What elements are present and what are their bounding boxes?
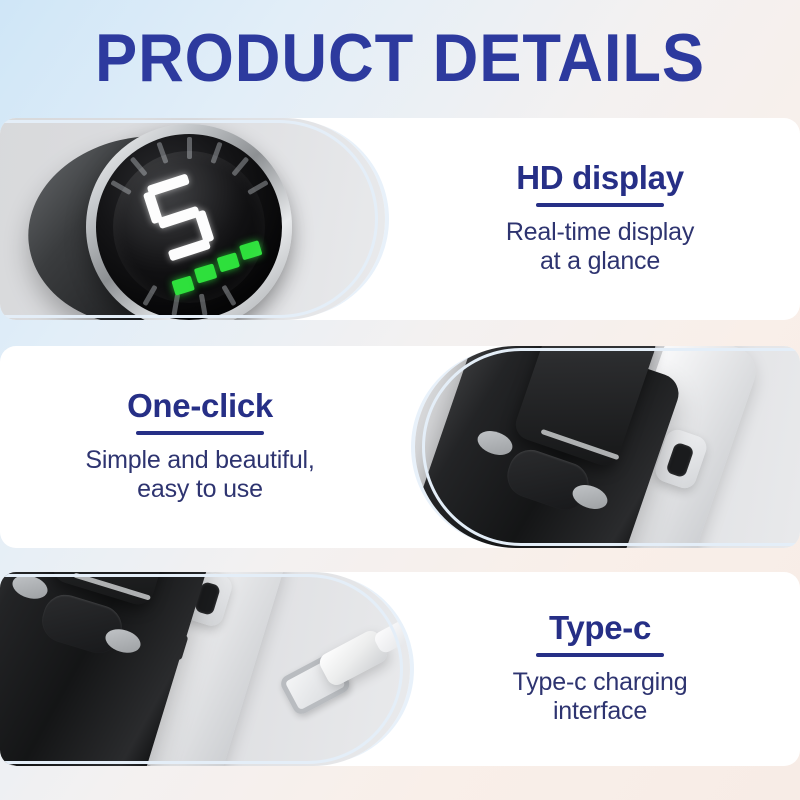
heading-underline bbox=[536, 653, 664, 657]
feature-heading: HD display bbox=[516, 161, 684, 196]
feature-text-one-click: One-click Simple and beautiful, easy to … bbox=[0, 346, 400, 548]
feature-description-line2: interface bbox=[513, 697, 688, 727]
feature-description-line1: Real-time display bbox=[506, 218, 694, 248]
feature-text-hd-display: HD display Real-time display at a glance bbox=[400, 118, 800, 320]
display-screen bbox=[96, 134, 282, 320]
product-photo-type-c bbox=[0, 572, 410, 766]
feature-panel-type-c: Type-c Type-c charging interface bbox=[0, 572, 800, 766]
feature-description-line1: Type-c charging bbox=[513, 668, 688, 698]
feature-panel-one-click: One-click Simple and beautiful, easy to … bbox=[0, 346, 800, 548]
screen-glare bbox=[113, 151, 265, 303]
display-bezel bbox=[86, 124, 292, 320]
feature-description-line2: at a glance bbox=[506, 247, 694, 277]
feature-heading: Type-c bbox=[549, 611, 651, 646]
feature-description: Real-time display at a glance bbox=[506, 218, 694, 277]
product-photo-hd-display bbox=[0, 118, 385, 320]
heading-underline bbox=[136, 431, 264, 435]
feature-description-line2: easy to use bbox=[85, 475, 314, 505]
product-photo-one-click bbox=[415, 346, 800, 548]
feature-description-line1: Simple and beautiful, bbox=[85, 446, 314, 476]
feature-text-type-c: Type-c Type-c charging interface bbox=[400, 572, 800, 766]
feature-heading: One-click bbox=[127, 389, 273, 424]
page-title-container: PRODUCT DETAILS bbox=[0, 12, 800, 104]
feature-description: Simple and beautiful, easy to use bbox=[85, 446, 314, 505]
feature-description: Type-c charging interface bbox=[513, 668, 688, 727]
feature-panel-hd-display: HD display Real-time display at a glance bbox=[0, 118, 800, 320]
heading-underline bbox=[536, 203, 664, 207]
clip-device bbox=[415, 346, 800, 548]
page-title: PRODUCT DETAILS bbox=[95, 24, 705, 92]
product-details-page: PRODUCT DETAILS bbox=[0, 0, 800, 800]
